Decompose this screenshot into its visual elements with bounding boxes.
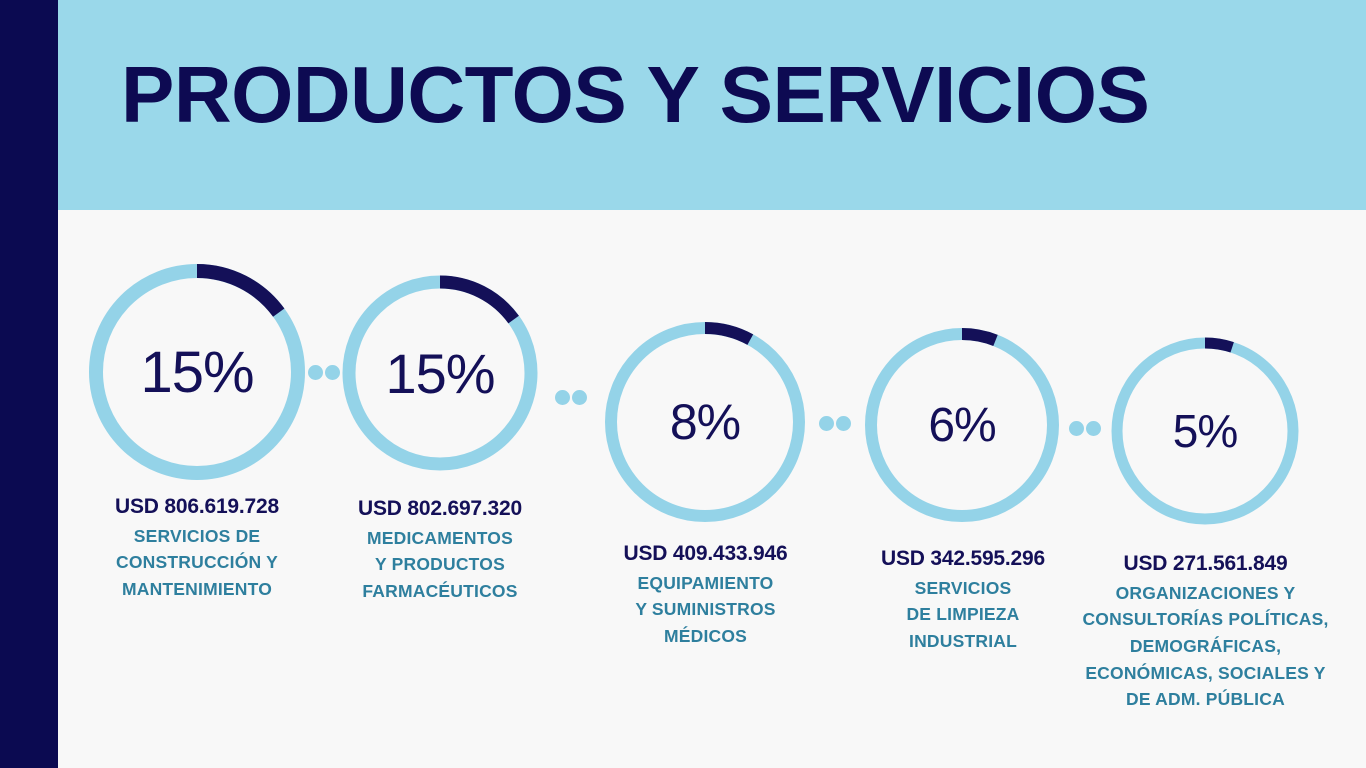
- donut-chart-1: 15%: [82, 257, 312, 487]
- donut-chart-5: 5%: [1106, 332, 1304, 530]
- percent-label-2: 15%: [336, 269, 544, 477]
- category-line: ECONÓMICAS, SOCIALES Y: [1043, 660, 1366, 687]
- category-label-5: ORGANIZACIONES YCONSULTORÍAS POLÍTICAS,D…: [1043, 580, 1366, 713]
- connector-dot: [325, 365, 340, 380]
- connector-dot: [308, 365, 323, 380]
- caption-5: USD 271.561.849ORGANIZACIONES YCONSULTOR…: [1043, 550, 1366, 713]
- percent-label-5: 5%: [1106, 332, 1304, 530]
- infographic-stage: 15%15%8%6%5% USD 806.619.728SERVICIOS DE…: [58, 210, 1366, 768]
- category-line: DE ADM. PÚBLICA: [1043, 686, 1366, 713]
- category-line: CONSULTORÍAS POLÍTICAS,: [1043, 606, 1366, 633]
- amount-label-5: USD 271.561.849: [1043, 550, 1366, 578]
- category-line: DEMOGRÁFICAS,: [1043, 633, 1366, 660]
- page-title: PRODUCTOS Y SERVICIOS: [121, 55, 1149, 135]
- category-line: ORGANIZACIONES Y: [1043, 580, 1366, 607]
- connector-dot: [555, 390, 570, 405]
- connector-dot: [572, 390, 587, 405]
- connector-dot: [836, 416, 851, 431]
- percent-label-1: 15%: [82, 257, 312, 487]
- connector-dot: [1069, 421, 1084, 436]
- connector-dot: [819, 416, 834, 431]
- donut-chart-3: 8%: [599, 316, 811, 528]
- header-band: PRODUCTOS Y SERVICIOS: [58, 0, 1366, 210]
- amount-label-2: USD 802.697.320: [280, 495, 600, 523]
- percent-label-4: 6%: [859, 322, 1065, 528]
- donut-chart-4: 6%: [859, 322, 1065, 528]
- left-accent-bar: [0, 0, 58, 768]
- percent-label-3: 8%: [599, 316, 811, 528]
- donut-chart-2: 15%: [336, 269, 544, 477]
- connector-dot: [1086, 421, 1101, 436]
